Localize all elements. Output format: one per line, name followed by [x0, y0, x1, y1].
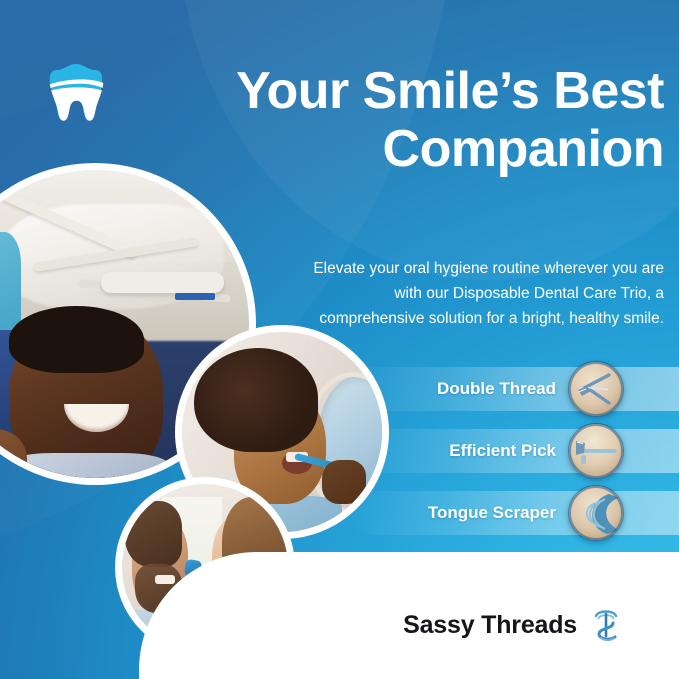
- interdental-pick-icon: [568, 423, 624, 479]
- sassy-threads-logo-icon: [589, 605, 623, 645]
- feature-label: Efficient Pick: [449, 441, 556, 461]
- brand-name: Sassy Threads: [403, 611, 577, 640]
- headline-line-1: Your Smile’s Best: [160, 62, 664, 120]
- feature-label: Double Thread: [437, 379, 556, 399]
- subcopy-paragraph: Elevate your oral hygiene routine wherev…: [305, 256, 664, 331]
- brand-lockup: Sassy Threads: [403, 605, 623, 645]
- footer-panel: Sassy Threads: [139, 552, 679, 679]
- tooth-icon: [48, 61, 104, 123]
- promo-poster: Your Smile’s Best Companion Elevate your…: [0, 0, 679, 679]
- feature-label: Tongue Scraper: [428, 503, 556, 523]
- floss-pick-icon: [568, 361, 624, 417]
- tongue-scraper-icon: [568, 485, 624, 541]
- page-title: Your Smile’s Best Companion: [160, 62, 664, 178]
